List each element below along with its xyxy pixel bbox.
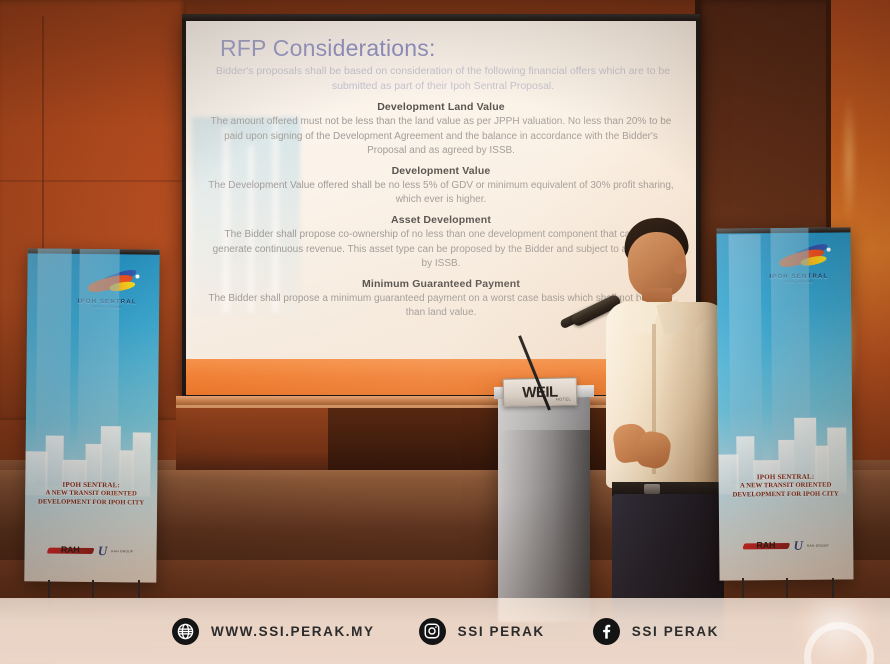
footer-instagram-label: SSI PERAK xyxy=(458,624,545,639)
rah-group-logo-icon: RAH U RAH GROUP xyxy=(25,542,157,559)
speaker-belt-buckle xyxy=(644,484,660,494)
globe-icon xyxy=(172,618,199,645)
banner-right: IPOH SENTRAL IPOH, PERAK IPOH SENTRAL: A… xyxy=(716,227,853,580)
wall-light-glow-upper xyxy=(842,95,856,225)
projection-screen-rail xyxy=(182,14,700,21)
speaker-ear xyxy=(674,256,686,274)
wall-seam-horizontal xyxy=(0,180,186,182)
footer-facebook-label: SSI PERAK xyxy=(632,624,719,639)
section-heading: Development Land Value xyxy=(198,101,684,113)
lectern-shading xyxy=(498,430,590,622)
rah-group-logo-icon: RAH U RAH GROUP xyxy=(719,537,853,554)
footer-item-website[interactable]: WWW.SSI.PERAK.MY xyxy=(172,618,375,645)
lectern-sign-subtext: HOTEL xyxy=(556,396,571,401)
instagram-icon xyxy=(419,618,446,645)
section-body: The amount offered must not be less than… xyxy=(198,115,684,158)
rah-logo-subtext: RAH GROUP xyxy=(807,544,829,548)
footer-website-label: WWW.SSI.PERAK.MY xyxy=(211,624,375,639)
rah-logo-mark: U xyxy=(98,543,108,559)
section-heading: Development Value xyxy=(198,165,684,177)
banner-tagline: IPOH SENTRAL: A NEW TRANSIT ORIENTED DEV… xyxy=(719,472,853,500)
banner-tagline: IPOH SENTRAL: A NEW TRANSIT ORIENTED DEV… xyxy=(25,480,157,509)
banner-tagline-line3: DEVELOPMENT FOR IPOH CITY xyxy=(719,491,853,501)
footer-decorative-fan xyxy=(790,598,882,664)
rah-logo-subtext: RAH GROUP xyxy=(111,549,133,553)
table-front-lit xyxy=(176,408,328,470)
footer-item-instagram[interactable]: SSI PERAK xyxy=(419,618,545,645)
slide-intro-text: Bidder's proposals shall be based on con… xyxy=(208,64,678,94)
footer-item-facebook[interactable]: SSI PERAK xyxy=(593,618,719,645)
facebook-icon xyxy=(593,618,620,645)
banner-left: IPOH SENTRAL IPOH, PERAK IPOH SENTRAL: A… xyxy=(24,248,159,582)
slide-title: RFP Considerations: xyxy=(220,35,684,62)
rah-logo-mark: U xyxy=(793,538,803,554)
rah-logo-text: RAH xyxy=(756,540,775,550)
presentation-photo: RFP Considerations: Bidder's proposals s… xyxy=(0,0,890,664)
footer-contact-bar: WWW.SSI.PERAK.MY SSI PERAK SSI PERAK xyxy=(0,598,890,664)
rah-logo-text: RAH xyxy=(61,544,80,554)
slide-section-development-value: Development Value The Development Value … xyxy=(198,165,684,207)
banner-tagline-line3: DEVELOPMENT FOR IPOH CITY xyxy=(25,499,157,509)
slide-section-development-land-value: Development Land Value The amount offere… xyxy=(198,101,684,158)
section-body: The Development Value offered shall be n… xyxy=(198,179,684,207)
